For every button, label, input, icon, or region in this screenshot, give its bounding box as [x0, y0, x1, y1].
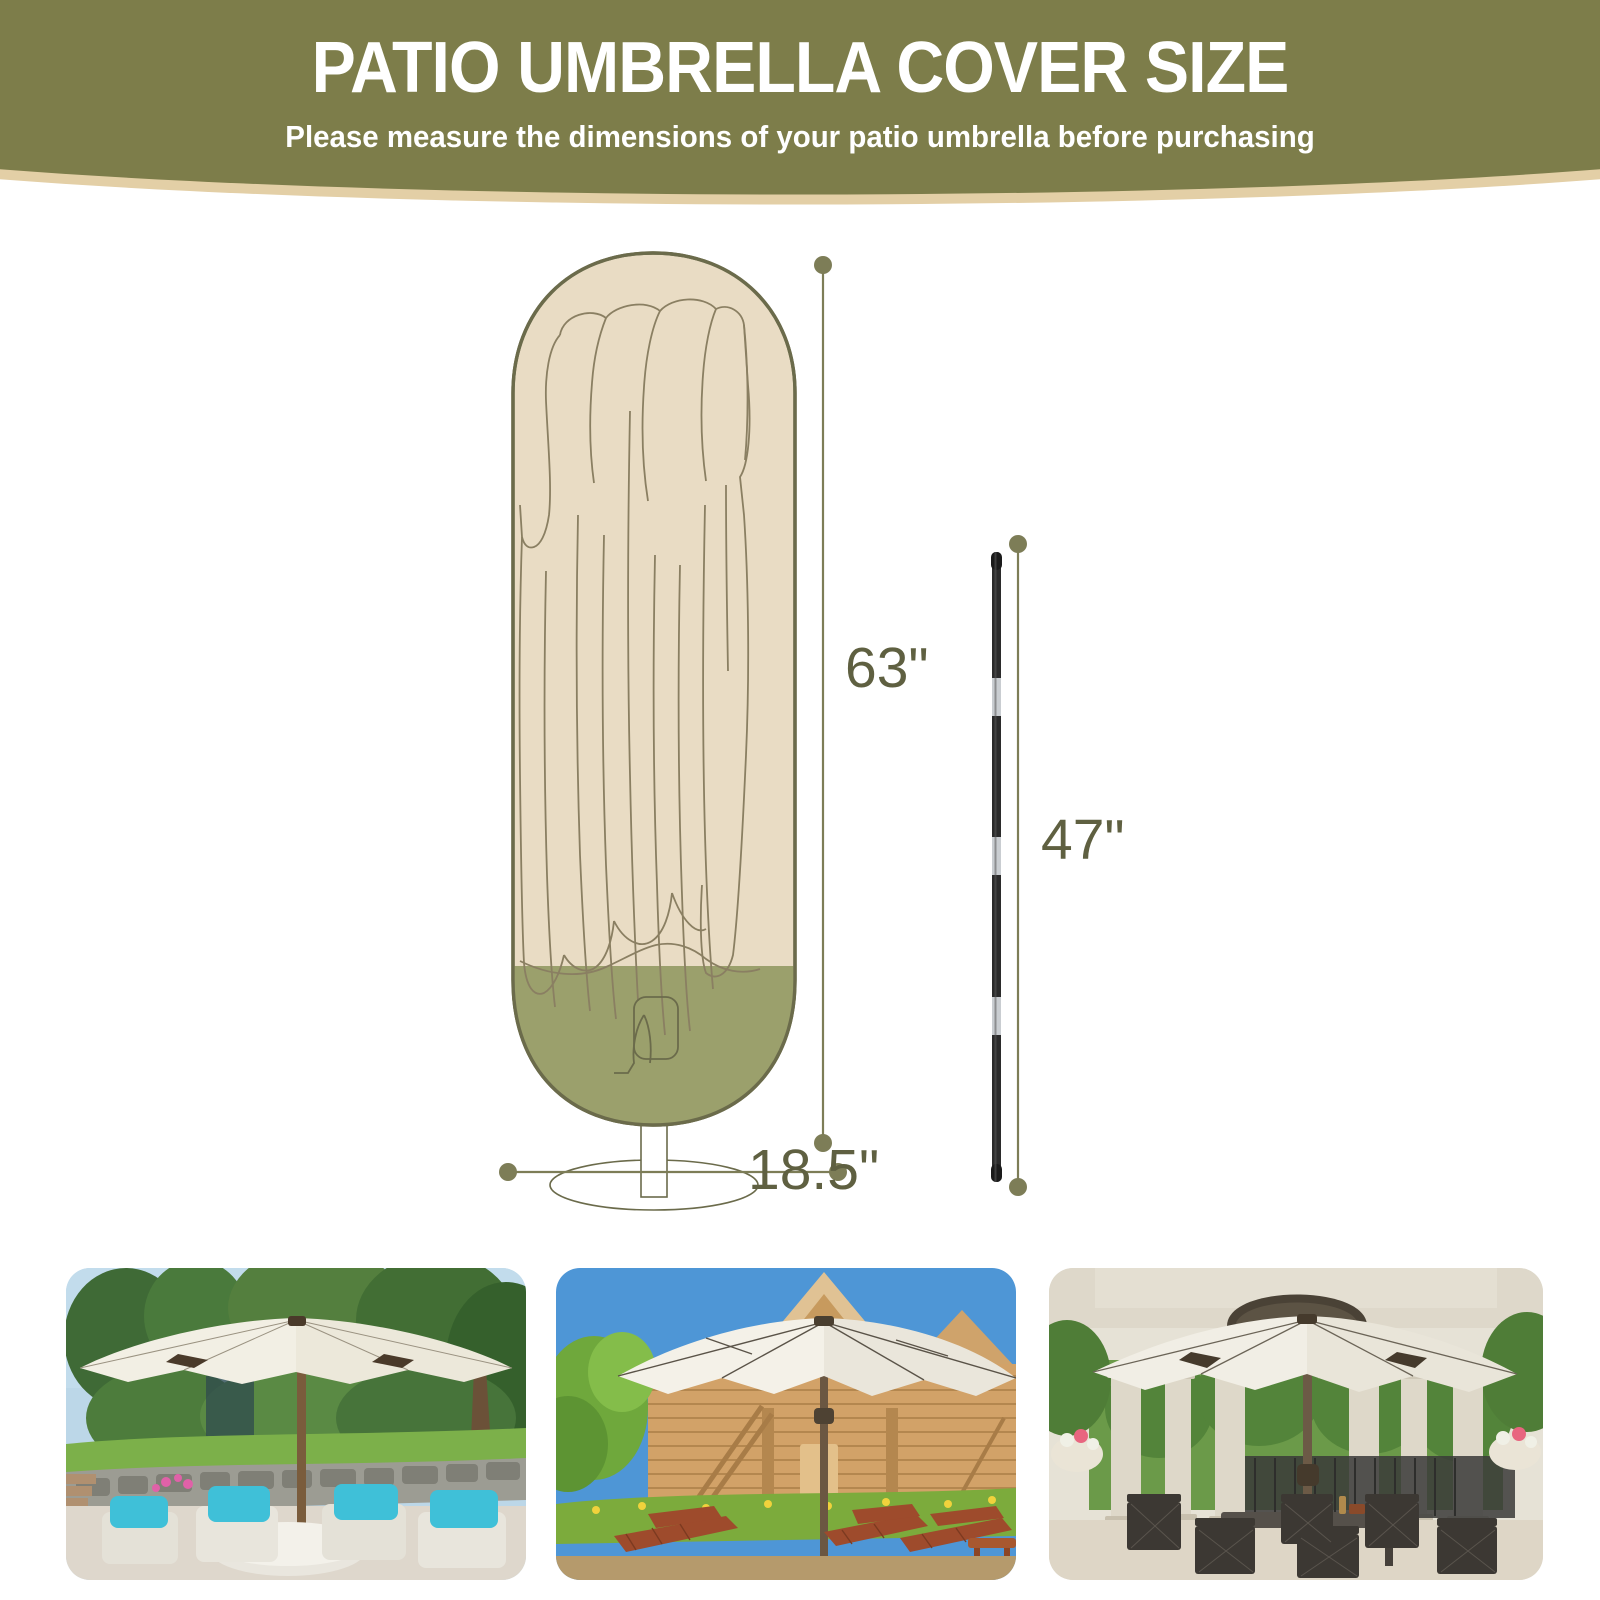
dimension-diagram: 63" 47" 18.5" — [0, 215, 1600, 1250]
photo-garden-patio — [66, 1268, 526, 1580]
cover-body — [505, 253, 805, 1141]
dimension-line-pole — [1009, 535, 1027, 1196]
dimension-label-pole: 47" — [1041, 807, 1125, 873]
photo-garden-patio-art — [66, 1268, 526, 1580]
dimension-label-width: 18.5" — [748, 1137, 879, 1203]
header-olive-band — [0, 0, 1600, 195]
header-banner-shape — [0, 0, 1600, 215]
cover-lower-band — [505, 966, 805, 1141]
header-banner: PATIO UMBRELLA COVER SIZE Please measure… — [0, 0, 1600, 215]
photo-stone-portico — [1049, 1268, 1543, 1580]
dimension-label-height: 63" — [845, 635, 929, 701]
photo-log-cabin — [556, 1268, 1016, 1580]
photo-stone-portico-art — [1049, 1268, 1543, 1580]
diagram-canvas — [0, 215, 1600, 1250]
photo-log-cabin-art — [556, 1268, 1016, 1580]
umbrella-pole-photo — [991, 552, 1002, 1182]
lifestyle-photo-row — [0, 1268, 1600, 1580]
dimension-line-height — [814, 256, 832, 1152]
